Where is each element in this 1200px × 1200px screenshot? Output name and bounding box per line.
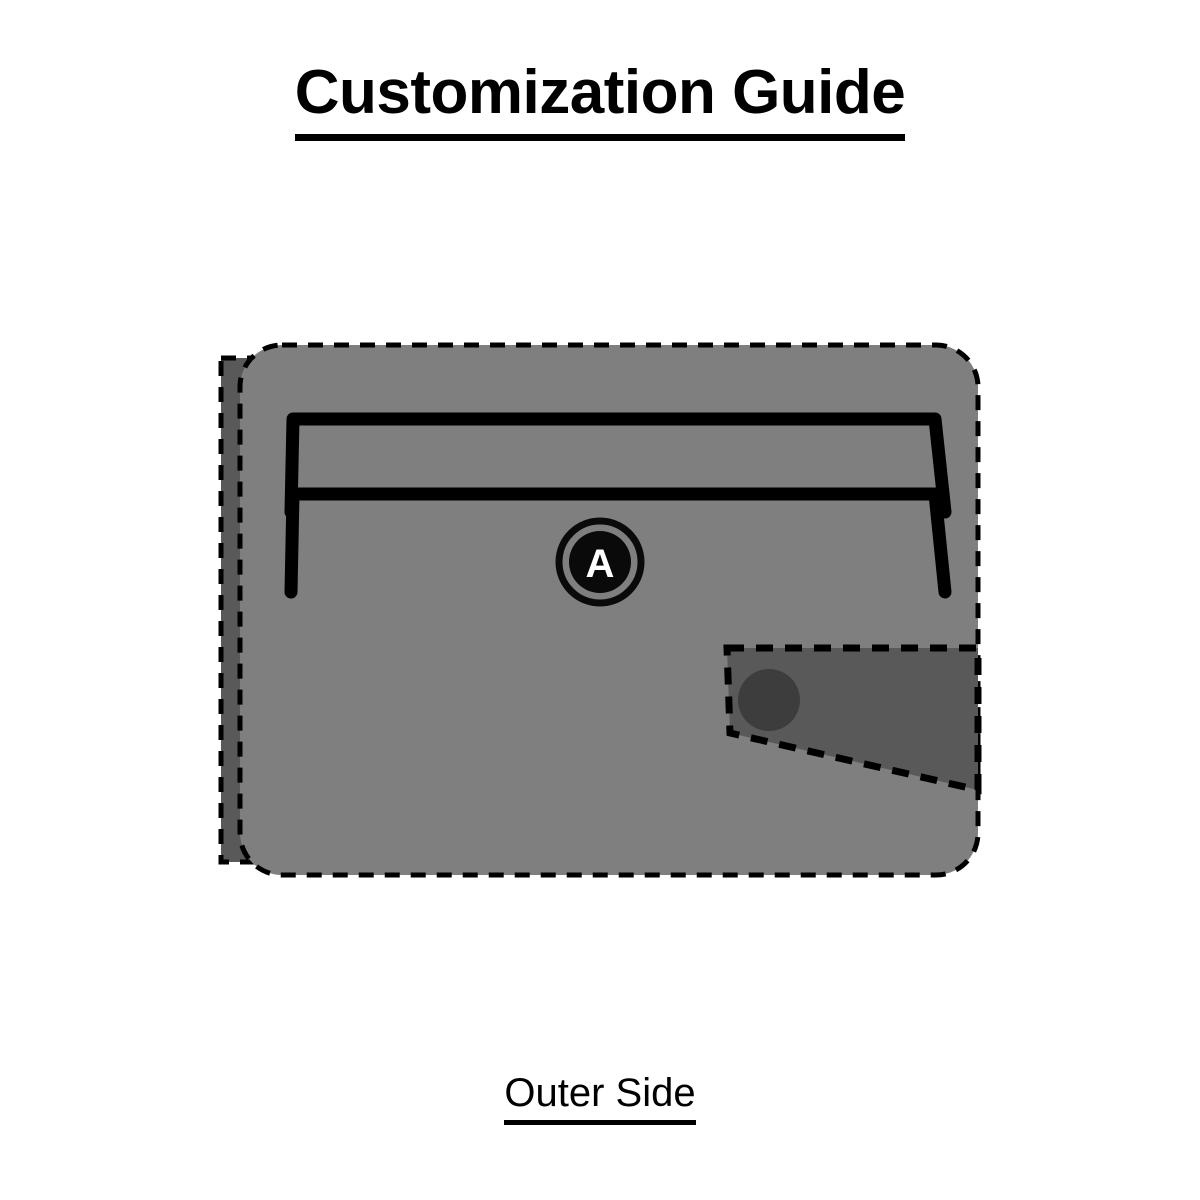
- figure-caption-text: Outer Side: [504, 1073, 695, 1125]
- wallet-diagram-svg: A: [0, 0, 1200, 1200]
- marker-outer-ring: [559, 521, 641, 603]
- page-root: Customization Guide A Outer Side: [0, 0, 1200, 1200]
- marker-letter: A: [586, 542, 615, 586]
- wallet-main-body: [240, 345, 978, 875]
- figure-caption: Outer Side: [0, 1073, 1200, 1125]
- snap-button-icon: [738, 669, 800, 731]
- pocket-flap: [727, 648, 978, 790]
- page-title-text: Customization Guide: [295, 62, 906, 141]
- marker-inner-disc: [569, 531, 631, 593]
- card-slot-2: [291, 494, 945, 592]
- customization-marker-a[interactable]: A: [559, 521, 641, 603]
- page-title: Customization Guide: [0, 62, 1200, 141]
- card-slot-1: [291, 419, 945, 512]
- wallet-spine-panel: [221, 358, 259, 862]
- wallet-diagram: A: [0, 0, 1200, 1200]
